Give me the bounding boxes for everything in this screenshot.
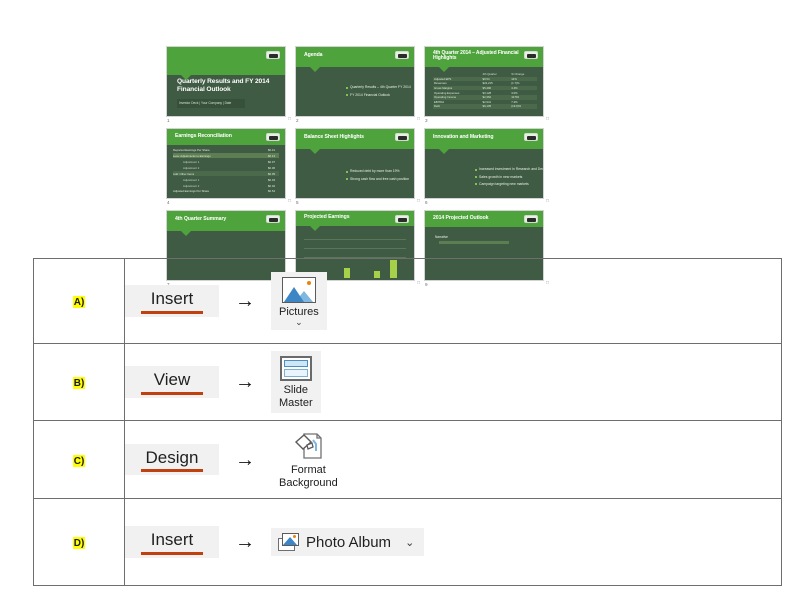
option-content-cell-c[interactable]: Design → <box>125 421 782 499</box>
slide-number: 3 <box>425 118 428 123</box>
ribbon-command-slide-master[interactable]: Slide Master <box>271 351 321 413</box>
tab-active-underline <box>141 552 203 555</box>
slide-cell[interactable]: Balance Sheet Highlights Reduced debt by… <box>295 128 421 208</box>
slide-cell[interactable]: Earnings Reconciliation Reported Earning… <box>166 128 292 208</box>
slide-thumbnail-2[interactable]: Agenda Quarterly Results – 4th Quarter F… <box>295 46 415 117</box>
slide-corner-marker: □ <box>286 199 291 204</box>
ribbon-tab-label: View <box>141 371 203 389</box>
chevron-down-icon[interactable]: ⌄ <box>405 536 414 549</box>
reconciliation-row: Reported Earnings Per Share $0.41 <box>173 147 279 152</box>
slide-corner-marker: □ <box>415 199 420 204</box>
slide-thumbnail-3[interactable]: 4th Quarter 2014 – Adjusted Financial Hi… <box>424 46 544 117</box>
reconciliation-rows: Reported Earnings Per Share $0.41 Less: … <box>173 147 279 195</box>
table-row: Debt $9,105 (19.0)% <box>433 104 537 109</box>
row-label: Adjustment 2 <box>183 166 199 170</box>
row-value: $0.02 <box>268 184 275 188</box>
slide-outline-heading: Narrative <box>435 235 448 239</box>
slide-bullet-list: Quarterly Results – 4th Quarter FY 2014 … <box>306 84 411 98</box>
option-label-cell-d: D) <box>34 499 125 586</box>
list-item: Strong cash flow and free cash position <box>346 176 409 183</box>
slide-number: 5 <box>296 200 299 205</box>
slide-thumbnail-grid: Quarterly Results and FY 2014 Financial … <box>166 46 556 250</box>
ribbon-tab-label: Design <box>141 449 203 467</box>
screen-badge-icon <box>524 215 538 223</box>
slide-number: 4 <box>167 200 170 205</box>
answer-options-table: A) Insert → Pictures <box>33 258 782 586</box>
row-label: Add: Other Items <box>173 172 194 176</box>
screen-badge-icon <box>395 133 409 141</box>
ribbon-command-photo-album[interactable]: Photo Album ⌄ <box>271 528 424 556</box>
slide-title: 4th Quarter Summary <box>175 216 275 222</box>
slide-number: 2 <box>296 118 299 123</box>
slide-cell[interactable]: Quarterly Results and FY 2014 Financial … <box>166 46 292 126</box>
ribbon-command-pictures[interactable]: Pictures ⌄ <box>271 272 327 330</box>
slide-master-icon <box>280 356 312 381</box>
screen-badge-icon <box>524 51 538 59</box>
sun-shape <box>307 281 311 285</box>
slide-cell[interactable]: Innovation and Marketing Increased inves… <box>424 128 550 208</box>
slide-title: 2014 Projected Outlook <box>433 215 533 221</box>
arrow-icon: → <box>233 532 257 552</box>
chart-gridline <box>304 239 406 240</box>
slide-number: 1 <box>167 118 170 123</box>
slide-title: Earnings Reconciliation <box>175 133 275 139</box>
slide-corner-marker: □ <box>286 117 291 122</box>
slide-table: 4th Quarter % Change Adjusted EPS $0.54 … <box>433 72 537 109</box>
slide-corner-marker: □ <box>415 117 420 122</box>
option-label: C) <box>73 455 86 467</box>
reconciliation-row: Adjusted Earnings Per Share $0.54 <box>173 189 279 194</box>
ribbon-command-format-background[interactable]: Format Background <box>271 426 346 493</box>
row-label: Less: Adjustments to Earnings <box>173 154 211 158</box>
table-row[interactable]: D) Insert → <box>34 499 782 586</box>
table-cell: (19.0)% <box>510 104 537 109</box>
list-item: Campaign targeting new markets <box>475 181 544 188</box>
slide-notch <box>181 231 191 236</box>
slide-thumbnail-1[interactable]: Quarterly Results and FY 2014 Financial … <box>166 46 286 117</box>
mountain-shape <box>283 537 297 545</box>
option-label: D) <box>73 537 86 549</box>
photo-album-icon <box>278 533 300 551</box>
mountain-front-shape <box>284 287 304 302</box>
row-value: $0.06 <box>268 166 275 170</box>
slide-title: Balance Sheet Highlights <box>304 134 404 140</box>
slide-thumbnail-5[interactable]: Balance Sheet Highlights Reduced debt by… <box>295 128 415 199</box>
chevron-down-icon[interactable]: ⌄ <box>279 319 319 326</box>
list-item: Reduced debt by more than 19% <box>346 168 409 175</box>
option-label: A) <box>73 296 86 308</box>
tab-active-underline <box>141 311 203 314</box>
screen-badge-icon <box>266 215 280 223</box>
table-cell: $9,105 <box>482 104 511 109</box>
slide-bullet-list: Reduced debt by more than 19% Strong cas… <box>306 168 409 182</box>
ribbon-tab-insert-2[interactable]: Insert <box>125 526 219 558</box>
option-label-cell-b: B) <box>34 344 125 421</box>
pictures-icon <box>282 277 316 303</box>
option-label: B) <box>73 377 86 389</box>
screen-badge-icon <box>266 51 280 59</box>
slide-header-shape <box>284 360 308 367</box>
slide-number: 6 <box>425 200 428 205</box>
row-value: $0.03 <box>268 178 275 182</box>
slide-notch <box>310 226 320 231</box>
ribbon-tab-label: Insert <box>141 290 203 308</box>
reconciliation-row: Adjustment 1 $0.03 <box>173 177 279 182</box>
list-item: FY 2014 Financial Outlook <box>346 92 411 99</box>
list-item: Increased investment in Research and Dev… <box>475 166 544 173</box>
table-row[interactable]: C) Design → <box>34 421 782 499</box>
option-label-cell-a: A) <box>34 259 125 344</box>
list-item: Sales growth in new markets <box>475 174 544 181</box>
command-label: Photo Album <box>306 534 391 551</box>
ribbon-tab-design[interactable]: Design <box>125 444 219 476</box>
slide-body-shape <box>284 369 308 377</box>
row-label: Reported Earnings Per Share <box>173 148 210 152</box>
table-cell: Debt <box>433 104 482 109</box>
command-label: Format Background <box>279 464 338 489</box>
photo-front-shape <box>282 533 299 546</box>
tab-active-underline <box>141 392 203 395</box>
reconciliation-row: Less: Adjustments to Earnings $0.13 <box>173 153 279 158</box>
ribbon-tab-label: Insert <box>141 531 203 549</box>
reconciliation-row: Adjustment 2 $0.02 <box>173 183 279 188</box>
slide-notch <box>310 67 320 72</box>
slide-thumbnail-6[interactable]: Innovation and Marketing Increased inves… <box>424 128 544 199</box>
row-value: $0.05 <box>268 172 275 176</box>
slide-bullet-list: Increased investment in Research and Dev… <box>435 166 544 187</box>
command-label: Slide Master <box>279 384 313 409</box>
slide-corner-marker: □ <box>544 199 549 204</box>
slide-notch <box>439 149 449 154</box>
screen-badge-icon <box>266 133 280 141</box>
slide-title: Innovation and Marketing <box>433 134 533 140</box>
option-label-cell-c: C) <box>34 421 125 499</box>
slide-subtitle: Investor Deck | Your Company | Date <box>179 101 231 105</box>
slide-title: Agenda <box>304 52 404 58</box>
reconciliation-row: Adjustment 1 $0.07 <box>173 159 279 164</box>
row-label: Adjusted Earnings Per Share <box>173 189 209 193</box>
arrow-icon: → <box>233 372 257 392</box>
row-label: Adjustment 1 <box>183 160 199 164</box>
slide-subtitle-bar: Investor Deck | Your Company | Date <box>177 99 245 108</box>
list-item: Quarterly Results – 4th Quarter FY 2014 <box>346 84 411 91</box>
slide-cell[interactable]: 4th Quarter 2014 – Adjusted Financial Hi… <box>424 46 550 126</box>
screen-badge-icon <box>395 51 409 59</box>
table-row[interactable]: B) View → Slide Master <box>34 344 782 421</box>
screen-badge-icon <box>395 215 409 223</box>
slide-title: Quarterly Results and FY 2014 Financial … <box>177 78 279 94</box>
option-content-cell-a[interactable]: Insert → Pictures ⌄ <box>125 259 782 344</box>
slide-notch <box>310 149 320 154</box>
slide-title: Projected Earnings <box>304 214 404 220</box>
slide-corner-marker: □ <box>544 117 549 122</box>
slide-thumbnail-4[interactable]: Earnings Reconciliation Reported Earning… <box>166 128 286 199</box>
ribbon-tab-view[interactable]: View <box>125 366 219 398</box>
arrow-icon: → <box>233 450 257 470</box>
tab-active-underline <box>141 469 203 472</box>
ribbon-tab-insert[interactable]: Insert <box>125 285 219 317</box>
screen-badge-icon <box>524 133 538 141</box>
chart-gridline <box>304 248 406 249</box>
row-value: $0.07 <box>268 160 275 164</box>
table-row[interactable]: A) Insert → Pictures <box>34 259 782 344</box>
option-content-cell-d[interactable]: Insert → Photo Album ⌄ <box>125 499 782 586</box>
row-value: $0.54 <box>268 189 275 193</box>
reconciliation-row: Adjustment 2 $0.06 <box>173 165 279 170</box>
reconciliation-row: Add: Other Items $0.05 <box>173 171 279 176</box>
slide-title: 4th Quarter 2014 – Adjusted Financial Hi… <box>433 51 525 63</box>
row-value: $0.13 <box>268 154 275 158</box>
row-label: Adjustment 1 <box>183 178 199 182</box>
slide-outline-placeholder <box>439 241 509 244</box>
row-value: $0.41 <box>268 148 275 152</box>
slide-cell[interactable]: Agenda Quarterly Results – 4th Quarter F… <box>295 46 421 126</box>
option-content-cell-b[interactable]: View → Slide Master <box>125 344 782 421</box>
arrow-icon: → <box>233 291 257 311</box>
row-label: Adjustment 2 <box>183 184 199 188</box>
format-background-icon <box>293 431 323 461</box>
